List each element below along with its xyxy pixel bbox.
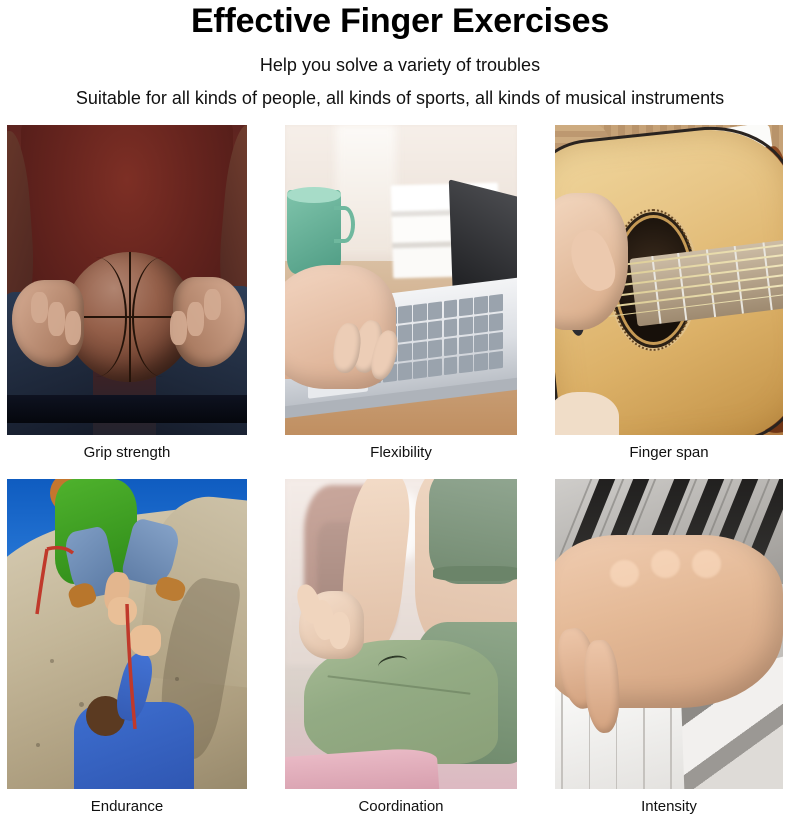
feature-caption: Grip strength — [7, 435, 247, 471]
feature-caption: Coordination — [285, 789, 517, 818]
key — [474, 296, 488, 315]
page-header: Effective Finger Exercises Help you solv… — [0, 0, 800, 109]
feature-cell-endurance: Endurance — [7, 479, 247, 818]
basketball-grip-photo — [7, 125, 247, 435]
key — [489, 332, 503, 351]
rock-climbing-photo — [7, 479, 247, 789]
finger — [170, 311, 187, 345]
feature-cell-finger-span: Finger span — [555, 125, 783, 471]
page-title: Effective Finger Exercises — [0, 2, 800, 40]
key — [489, 351, 503, 370]
product-feature-page: Effective Finger Exercises Help you solv… — [0, 0, 800, 818]
feature-caption: Finger span — [555, 435, 783, 471]
feature-caption: Flexibility — [285, 435, 517, 471]
mug-rim — [287, 187, 340, 203]
finger — [48, 302, 65, 336]
feature-grid-row-2: Endurance — [7, 479, 794, 818]
key — [474, 352, 488, 371]
key — [429, 358, 443, 377]
key — [444, 356, 458, 375]
feature-cell-coordination: Coordination — [285, 479, 517, 818]
key — [398, 362, 412, 381]
key — [459, 354, 473, 373]
key — [459, 297, 473, 316]
rock-speckle — [50, 659, 54, 663]
finger — [204, 289, 221, 320]
key — [459, 316, 473, 335]
feature-cell-flexibility: Flexibility — [285, 125, 517, 471]
key — [444, 299, 458, 318]
key — [413, 341, 427, 360]
lower-climber-reaching-hand — [129, 625, 160, 656]
key — [398, 343, 412, 362]
laptop-typing-photo — [285, 125, 517, 435]
finger — [187, 302, 204, 336]
feature-cell-grip-strength: Grip strength — [7, 125, 247, 471]
key — [413, 303, 427, 322]
key — [413, 322, 427, 341]
rock-speckle — [36, 743, 40, 747]
acoustic-guitar-photo — [555, 125, 783, 435]
key — [429, 301, 443, 320]
white-key-divider — [562, 684, 564, 789]
key — [459, 335, 473, 354]
green-coffee-mug — [287, 190, 340, 274]
feature-caption: Intensity — [555, 789, 783, 818]
upper-climber-hand — [108, 597, 137, 625]
key — [398, 324, 412, 343]
page-subtitle-secondary: Suitable for all kinds of people, all ki… — [0, 87, 800, 109]
key — [474, 333, 488, 352]
key — [474, 315, 488, 334]
feature-caption: Endurance — [7, 789, 247, 818]
piano-playing-photo — [555, 479, 783, 789]
finger — [31, 292, 48, 323]
key — [489, 313, 503, 332]
finger — [65, 311, 82, 345]
pink-yoga-mat — [285, 746, 439, 789]
yoga-meditation-photo — [285, 479, 517, 789]
key — [429, 320, 443, 339]
key — [429, 339, 443, 358]
sports-bra-band — [433, 566, 517, 582]
key — [444, 337, 458, 356]
key — [489, 294, 503, 313]
feature-cell-intensity: Intensity — [555, 479, 783, 818]
key — [398, 305, 412, 324]
athlete-waistband — [7, 395, 247, 423]
mug-handle — [334, 206, 355, 243]
page-subtitle-primary: Help you solve a variety of troubles — [0, 54, 800, 76]
feature-grid-row-1: Grip strength — [7, 125, 794, 471]
key — [444, 318, 458, 337]
key — [413, 360, 427, 379]
